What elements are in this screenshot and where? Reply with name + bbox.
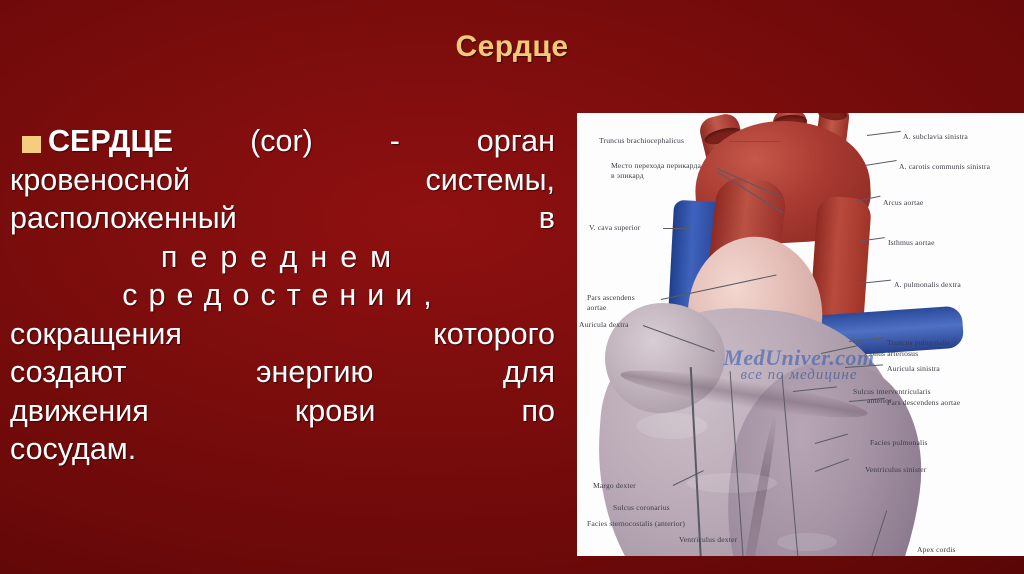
word: орган [477,122,555,161]
text-line-7: создают энергию для [10,353,555,392]
lead-word: СЕРДЦЕ [48,122,173,161]
label-pars-ascendens-aortae-line2: aortae [587,303,606,312]
bullet-square-icon [22,136,41,153]
word: системы, [426,161,556,200]
word: крови [295,392,376,431]
label-ventriculus-sinister: Ventriculus sinister [865,465,926,474]
word: для [503,353,555,392]
text-line-8: движения крови по [10,392,555,431]
slide-canvas: Сердце СЕРДЦЕ (cor) - орган кровеносной … [0,0,1024,574]
text-line-3: расположенный в [10,199,555,238]
label-conus-arteriosus: Conus arteriosus [865,349,918,358]
label-truncus-brachiocephalicus: Truncus brachiocephalicus [599,136,684,145]
surface-texture [777,533,837,551]
leader-line [729,141,781,142]
word: энергию [256,353,373,392]
label-a-subclavia-sinistra: A. subclavia sinistra [903,132,968,141]
leader-line [867,131,901,136]
body-paragraph: СЕРДЦЕ (cor) - орган кровеносной системы… [10,122,555,469]
label-pars-descendens-aortae: Pars descendens aortae [887,398,960,407]
word: движения [10,392,149,431]
label-auricula-sinistra: Auricula sinistra [887,364,940,373]
label-facies-pulmonalis: Facies pulmonalis [870,438,928,447]
label-facies-sternocostalis: Facies sternocostalis (anterior) [587,519,685,528]
label-truncus-pulmonalis: Truncus pulmonalis [887,338,950,347]
word: - [390,122,400,161]
page-title: Сердце [0,30,1024,64]
text-line-1: СЕРДЦЕ (cor) - орган [10,122,555,161]
label-auricula-dextra: Auricula dextra [579,320,629,329]
word: по [522,392,555,431]
word: сокращения [10,315,182,354]
word: расположенный [10,199,237,238]
text-line-2: кровеносной системы, [10,161,555,200]
word: в [539,199,555,238]
label-mesto-perehoda-perikarda-line2: в эпикард [611,171,644,180]
body-text-block: СЕРДЦЕ (cor) - орган кровеносной системы… [10,122,555,469]
label-a-pulmonalis-dextra: A. pulmonalis dextra [894,280,961,289]
word: создают [10,353,126,392]
label-sulcus-coronarius: Sulcus coronarius [613,503,670,512]
leader-line [865,160,897,166]
label-v-cava-superior: V. cava superior [589,223,640,232]
heart-illustration: MedUniver.com все по медицине [577,113,1024,556]
leader-line [663,228,689,229]
word: которого [433,315,555,354]
label-isthmus-aortae: Isthmus aortae [888,238,935,247]
surface-texture [637,413,707,439]
label-a-carotis-communis-sinistra: A. carotis communis sinistra [899,162,990,171]
label-sulcus-interventricularis: Sulcus interventricularis [853,387,931,396]
surface-texture [687,473,777,493]
text-line-9: сосудам. [10,430,555,469]
heart-anatomy-figure: MedUniver.com все по медицине [577,113,1024,556]
label-sulcus-interventricularis-line2: anterior [867,396,892,405]
label-pars-ascendens-aortae: Pars ascendens [587,293,635,302]
text-line-4: переднем [10,238,555,277]
label-arcus-aortae: Arcus aortae [883,198,923,207]
label-mesto-perehoda-perikarda: Место перехода перикарда [611,161,701,170]
word: кровеносной [10,161,190,200]
bullet-item: СЕРДЦЕ (cor) - орган кровеносной системы… [10,122,555,469]
label-ventriculus-dexter: Ventriculus dexter [679,535,737,544]
label-margo-dexter: Margo dexter [593,481,636,490]
text-line-6: сокращения которого [10,315,555,354]
word: (cor) [250,122,313,161]
label-apex-cordis: Apex cordis [917,545,956,554]
text-line-5: средостении, [10,276,555,315]
